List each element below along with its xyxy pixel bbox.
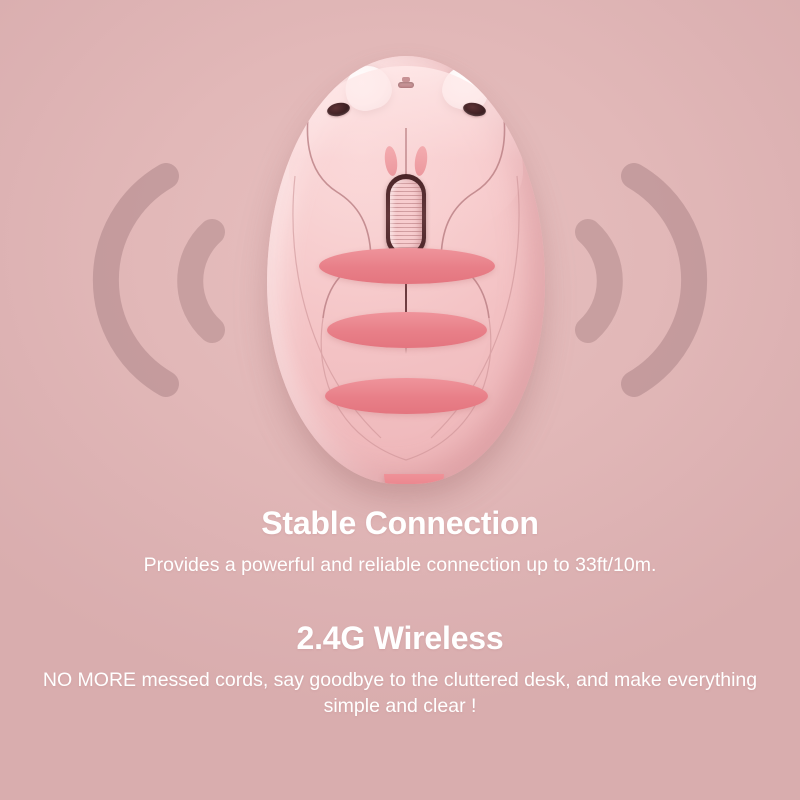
product-feature-page: Stable Connection Provides a powerful an… — [0, 0, 800, 800]
scroll-wheel-ribs — [390, 179, 422, 253]
signal-arc-left-inner — [190, 232, 212, 330]
signal-arc-right-inner — [588, 232, 610, 330]
feature-title: Stable Connection — [0, 505, 800, 543]
tail-nub — [384, 474, 444, 484]
mouse-body — [267, 56, 545, 484]
feature-title: 2.4G Wireless — [0, 620, 800, 658]
product-image — [255, 40, 555, 500]
belly-stripe-2 — [327, 312, 487, 348]
feature-description: Provides a powerful and reliable connect… — [35, 552, 765, 578]
scroll-wheel[interactable] — [386, 174, 426, 258]
belly-stripe-3 — [325, 378, 488, 414]
signal-arc-left-outer — [106, 176, 166, 384]
feature-copy: Stable Connection Provides a powerful an… — [0, 505, 800, 719]
feature-block-stable-connection: Stable Connection Provides a powerful an… — [0, 505, 800, 578]
feature-block-24g-wireless: 2.4G Wireless NO MORE messed cords, say … — [0, 620, 800, 719]
belly-stripe-1 — [319, 248, 495, 284]
feature-description: NO MORE messed cords, say goodbye to the… — [35, 667, 765, 719]
signal-arc-right-outer — [634, 176, 694, 384]
